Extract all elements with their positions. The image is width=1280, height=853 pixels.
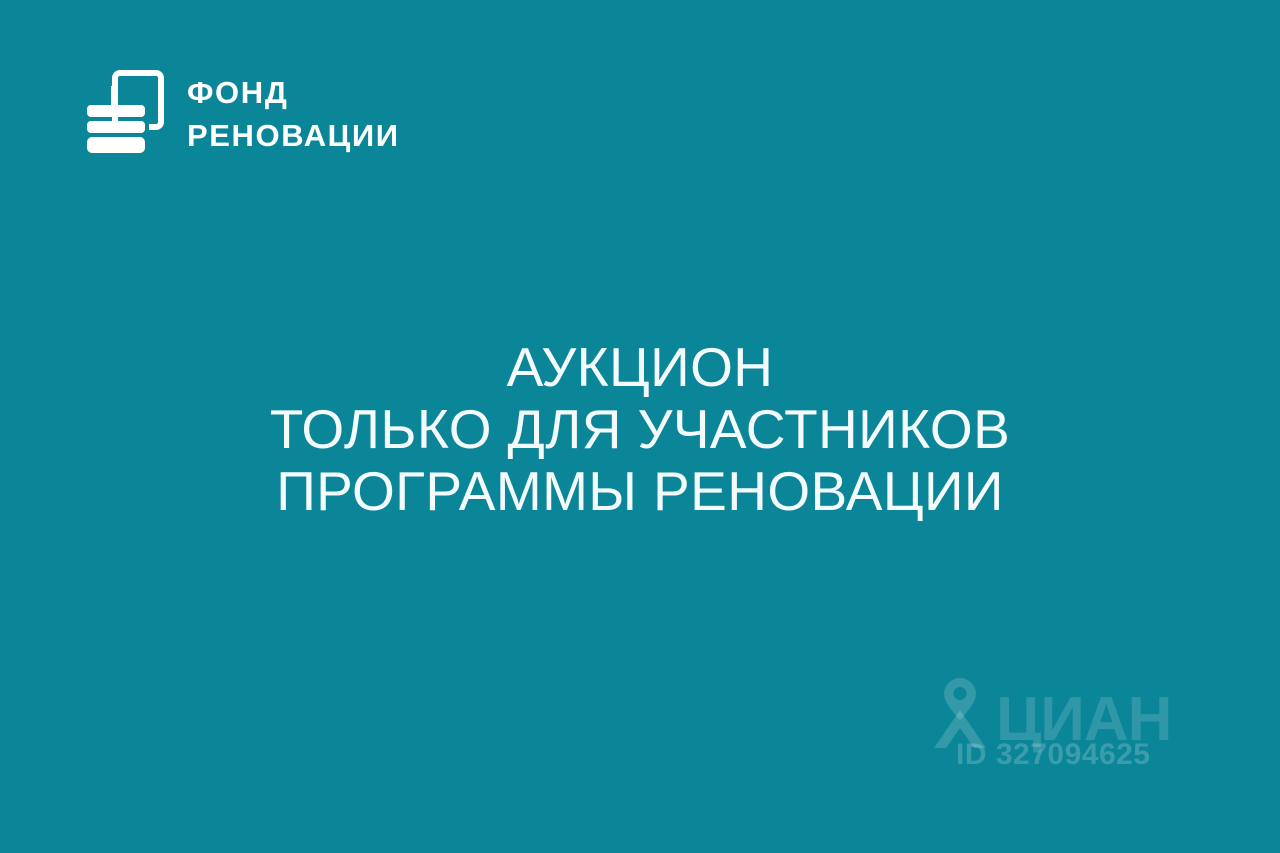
map-pin-icon [932,676,988,748]
brand-wordmark-line-2: РЕНОВАЦИИ [187,120,400,151]
headline-line-2: ТОЛЬКО ДЛЯ УЧАСТНИКОВ [0,398,1280,460]
stacked-cards-square-icon [84,68,166,158]
auction-banner: ФОНД РЕНОВАЦИИ АУКЦИОН ТОЛЬКО ДЛЯ УЧАСТН… [0,0,1280,853]
headline-block: АУКЦИОН ТОЛЬКО ДЛЯ УЧАСТНИКОВ ПРОГРАММЫ … [0,336,1280,522]
cian-watermark: ЦИАН ID 327094625 [932,676,1162,776]
cian-brand-text: ЦИАН [996,692,1171,748]
brand-wordmark: ФОНД РЕНОВАЦИИ [187,75,400,151]
headline-line-3: ПРОГРАММЫ РЕНОВАЦИИ [0,460,1280,522]
cian-listing-id: ID 327094625 [956,738,1151,772]
brand-lockup: ФОНД РЕНОВАЦИИ [84,68,400,158]
cian-logo: ЦИАН [932,676,1171,748]
headline-line-1: АУКЦИОН [0,336,1280,398]
brand-wordmark-line-1: ФОНД [187,77,400,108]
